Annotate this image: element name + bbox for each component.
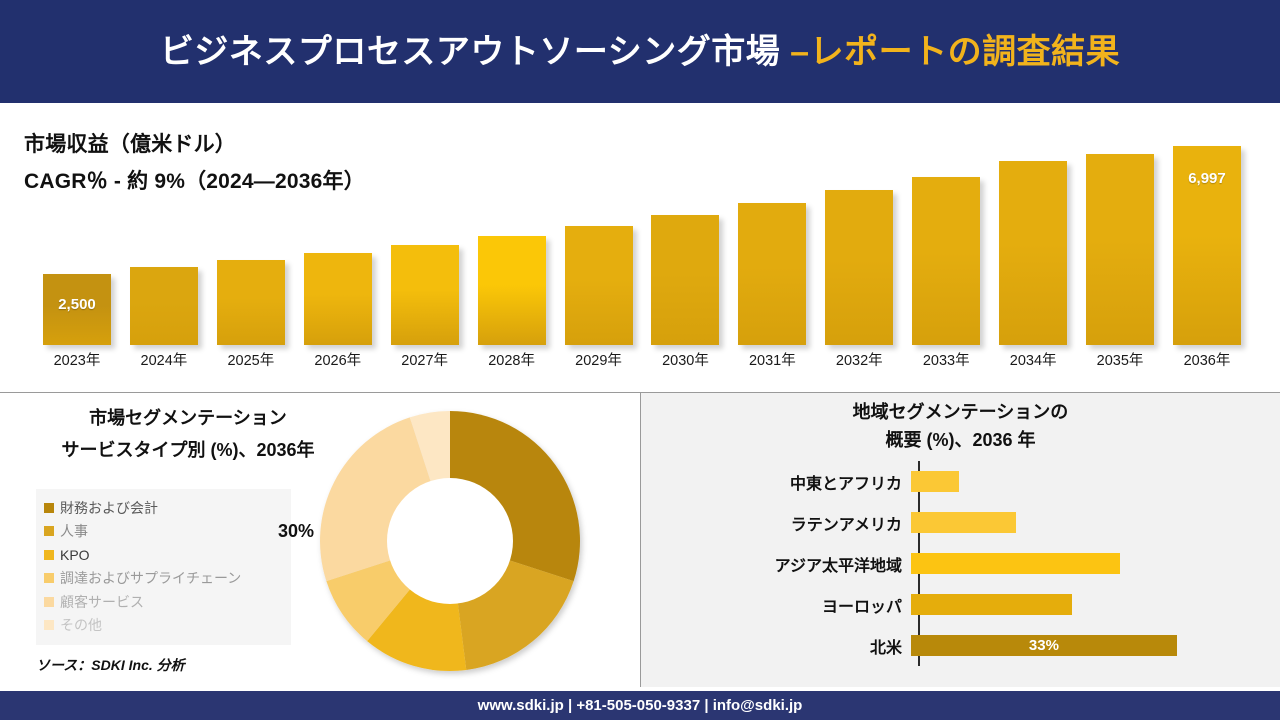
revenue-bar-wrapper [822,190,896,345]
revenue-bar-wrapper [301,253,375,345]
legend-item[interactable]: 調達およびサプライチェーン [44,567,283,591]
regional-bar [911,471,959,492]
revenue-bar-wrapper [648,215,722,345]
legend-swatch-icon [44,573,54,583]
revenue-bar-wrapper [996,161,1070,345]
page-title: ビジネスプロセスアウトソーシング市場 –レポートの調査結果 [160,35,1120,69]
revenue-bar-column [648,215,722,345]
regional-bar [911,553,1120,574]
legend-swatch-icon [44,620,54,630]
revenue-bar-column: 2,500 [40,274,114,345]
revenue-bar-column [214,260,288,345]
revenue-x-tick-label: 2034年 [996,349,1070,373]
revenue-bar [651,215,719,345]
legend-item[interactable]: KPO [44,543,283,567]
revenue-bar-column [996,161,1070,345]
revenue-x-axis-labels: 2023年2024年2025年2026年2027年2028年2029年2030年… [40,349,1244,373]
legend-swatch-icon [44,550,54,560]
regional-bar: 33% [911,635,1177,656]
revenue-bar [130,267,198,345]
revenue-x-tick-label: 2030年 [648,349,722,373]
revenue-x-tick-label: 2031年 [735,349,809,373]
revenue-bar-wrapper [735,203,809,345]
revenue-bar-wrapper: 2,500 [40,274,114,345]
service-title-line1: 市場セグメンテーション [28,409,348,427]
revenue-bar-wrapper: 6,997 [1170,146,1244,345]
regional-bar-row: 北米33% [641,625,1280,666]
revenue-x-tick-label: 2036年 [1170,349,1244,373]
regional-title-line2: 概要 (%)、2036 年 [641,431,1280,449]
legend-item[interactable]: 顧客サービス [44,590,283,614]
revenue-bar-column [1083,154,1157,345]
revenue-bars-group: 2,5006,997 [40,113,1244,345]
revenue-bar-wrapper [388,245,462,345]
revenue-bar-column [735,203,809,345]
service-title-line2: サービスタイプ別 (%)、2036年 [28,441,348,459]
legend-swatch-icon [44,526,54,536]
legend-item-label: 顧客サービス [60,592,144,612]
legend-item-label: 財務および会計 [60,498,158,518]
page-title-main: ビジネスプロセスアウトソーシング市場 [160,33,790,71]
revenue-bar-column [388,245,462,345]
revenue-bar [738,203,806,345]
infographic-page: ビジネスプロセスアウトソーシング市場 –レポートの調査結果 市場収益（億米ドル）… [0,0,1280,720]
revenue-bar [565,226,633,345]
legend-swatch-icon [44,597,54,607]
legend-item[interactable]: 財務および会計 [44,496,283,520]
regional-bars-group: 中東とアフリカラテンアメリカアジア太平洋地域ヨーロッパ北米33% [641,461,1280,666]
revenue-x-tick-label: 2027年 [388,349,462,373]
revenue-bar-column [909,177,983,345]
revenue-bar: 2,500 [43,274,111,345]
revenue-x-tick-label: 2023年 [40,349,114,373]
legend-swatch-icon [44,503,54,513]
regional-category-label: アジア太平洋地域 [641,552,911,576]
page-title-accent: –レポートの調査結果 [790,33,1120,71]
revenue-bar-column [475,236,549,346]
revenue-bar-value-label: 6,997 [1173,170,1241,187]
legend-item[interactable]: その他 [44,614,283,638]
revenue-x-tick-label: 2028年 [475,349,549,373]
regional-bar-value-label: 33% [911,637,1177,654]
regional-segmentation-panel: 地域セグメンテーションの 概要 (%)、2036 年 中東とアフリカラテンアメリ… [641,393,1280,687]
regional-title-line1: 地域セグメンテーションの [641,403,1280,421]
revenue-bar-chart-panel: 市場収益（億米ドル） CAGR％ - 約 9%（2024―2036年） 2,50… [0,103,1280,392]
legend-item-label: その他 [60,615,102,635]
revenue-bar-wrapper [562,226,636,345]
regional-bar [911,594,1072,615]
revenue-plot-area: 2,5006,997 [40,113,1244,345]
regional-bar-holder [911,584,1280,625]
legend-item-label: 調達およびサプライチェーン [60,568,241,588]
revenue-bar-column: 6,997 [1170,146,1244,345]
source-note: ソース：SDKI Inc. 分析 [36,655,185,675]
revenue-bar-column [127,267,201,345]
service-segmentation-legend: 財務および会計人事KPO調達およびサプライチェーン顧客サービスその他 [36,489,291,645]
regional-bar-holder: 33% [911,625,1280,666]
revenue-bar [999,161,1067,345]
revenue-x-tick-label: 2029年 [562,349,636,373]
revenue-bar [825,190,893,345]
regional-bar-row: ラテンアメリカ [641,502,1280,543]
revenue-bar: 6,997 [1173,146,1241,345]
page-footer: www.sdki.jp | +81-505-050-9337 | info@sd… [0,691,1280,720]
revenue-bar [304,253,372,345]
regional-bar-row: 中東とアフリカ [641,461,1280,502]
page-header: ビジネスプロセスアウトソーシング市場 –レポートの調査結果 [0,0,1280,103]
regional-category-label: ヨーロッパ [641,593,911,617]
revenue-bar [1086,154,1154,345]
donut-chart: 30% [310,401,590,681]
revenue-x-tick-label: 2024年 [127,349,201,373]
revenue-bar-wrapper [214,260,288,345]
regional-bar-holder [911,461,1280,502]
regional-bar-holder [911,502,1280,543]
revenue-x-tick-label: 2032年 [822,349,896,373]
footer-contact-text: www.sdki.jp | +81-505-050-9337 | info@sd… [478,697,803,714]
revenue-bar [217,260,285,345]
regional-bar [911,512,1016,533]
legend-item-label: KPO [60,547,90,563]
revenue-x-tick-label: 2035年 [1083,349,1157,373]
service-segmentation-title: 市場セグメンテーション サービスタイプ別 (%)、2036年 [28,409,348,459]
revenue-x-tick-label: 2033年 [909,349,983,373]
revenue-x-tick-label: 2025年 [214,349,288,373]
revenue-x-tick-label: 2026年 [301,349,375,373]
revenue-bar [478,236,546,346]
regional-category-label: 北米 [641,634,911,658]
revenue-bar-value-label: 2,500 [43,296,111,313]
revenue-bar-wrapper [909,177,983,345]
revenue-bar-wrapper [127,267,201,345]
revenue-bar-column [562,226,636,345]
revenue-bar-wrapper [1083,154,1157,345]
regional-bar-holder [911,543,1280,584]
legend-item-label: 人事 [60,521,88,541]
regional-plot-area: 中東とアフリカラテンアメリカアジア太平洋地域ヨーロッパ北米33% [641,461,1280,673]
revenue-bar-wrapper [475,236,549,346]
donut-hole [387,478,513,604]
regional-bar-row: ヨーロッパ [641,584,1280,625]
donut-chart-svg [310,401,590,681]
revenue-bar-column [822,190,896,345]
donut-center-label: 30% [278,521,314,542]
regional-category-label: ラテンアメリカ [641,511,911,535]
revenue-bar [391,245,459,345]
legend-item[interactable]: 人事 [44,520,283,544]
revenue-bar [912,177,980,345]
regional-bar-row: アジア太平洋地域 [641,543,1280,584]
regional-category-label: 中東とアフリカ [641,470,911,494]
revenue-bar-column [301,253,375,345]
regional-segmentation-title: 地域セグメンテーションの 概要 (%)、2036 年 [641,403,1280,449]
service-segmentation-panel: 市場セグメンテーション サービスタイプ別 (%)、2036年 財務および会計人事… [0,393,640,687]
